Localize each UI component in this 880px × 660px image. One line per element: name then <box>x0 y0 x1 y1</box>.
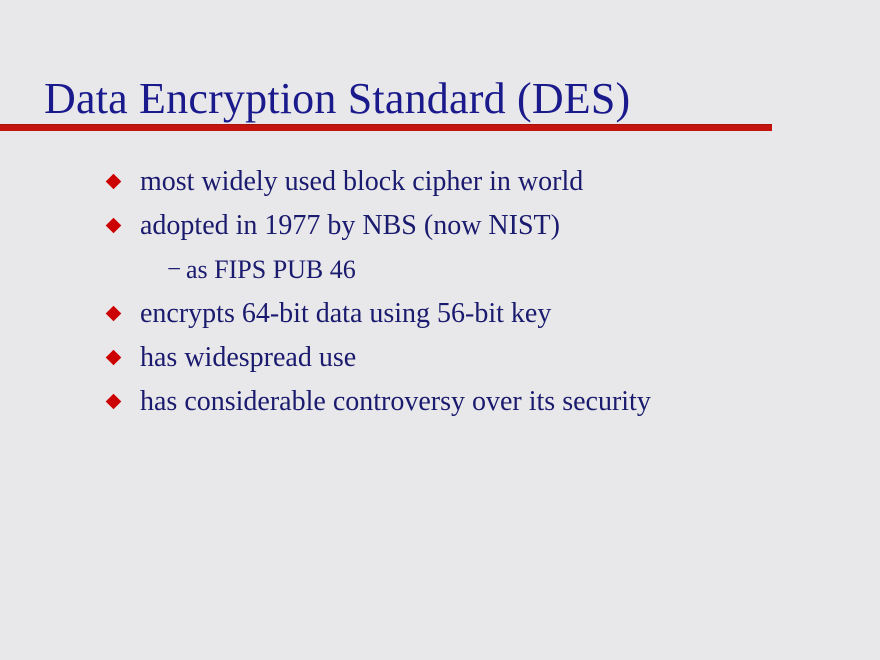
sub-list-item-label: as FIPS PUB 46 <box>186 248 356 292</box>
diamond-bullet-icon <box>106 350 122 366</box>
diamond-bullet-icon <box>106 174 122 190</box>
page-title: Data Encryption Standard (DES) <box>44 74 630 124</box>
dash-bullet-icon: − <box>167 248 181 292</box>
list-item: has widespread use <box>0 336 880 380</box>
list-item: encrypts 64-bit data using 56-bit key <box>0 292 880 336</box>
list-item: has considerable controversy over its se… <box>0 380 880 424</box>
presentation-slide: Data Encryption Standard (DES) most wide… <box>0 0 880 660</box>
list-item-label: encrypts 64-bit data using 56-bit key <box>140 292 551 336</box>
list-item-label: has considerable controversy over its se… <box>140 380 651 424</box>
list-item: adopted in 1977 by NBS (now NIST) <box>0 204 880 248</box>
diamond-bullet-icon <box>106 218 122 234</box>
list-item-label: has widespread use <box>140 336 356 380</box>
list-item-label: most widely used block cipher in world <box>140 160 583 204</box>
list-item: most widely used block cipher in world <box>0 160 880 204</box>
diamond-bullet-icon <box>106 394 122 410</box>
title-underline-rule <box>0 124 772 131</box>
bullet-list: most widely used block cipher in world a… <box>0 160 880 424</box>
diamond-bullet-icon <box>106 306 122 322</box>
list-item-label: adopted in 1977 by NBS (now NIST) <box>140 204 560 248</box>
sub-list-item: − as FIPS PUB 46 <box>0 248 880 292</box>
